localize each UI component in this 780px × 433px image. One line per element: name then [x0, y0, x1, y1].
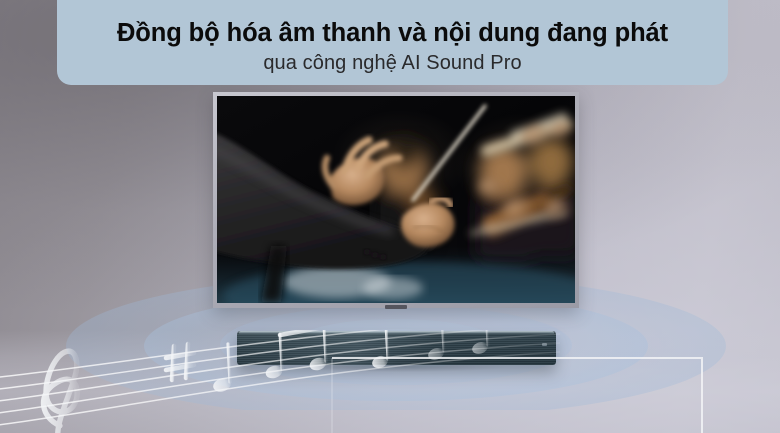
headline-banner: Đồng bộ hóa âm thanh và nội dung đang ph… [57, 0, 728, 85]
banner-headline: Đồng bộ hóa âm thanh và nội dung đang ph… [117, 19, 668, 48]
soundbar-sheen [237, 331, 556, 365]
television [213, 92, 579, 308]
soundbar [237, 331, 556, 365]
tv-screen [217, 96, 575, 303]
tv-screen-image [217, 96, 575, 303]
soundbar-indicator [542, 343, 547, 346]
banner-subheadline: qua công nghệ AI Sound Pro [263, 52, 521, 75]
promo-banner-image: Đồng bộ hóa âm thanh và nội dung đang ph… [0, 0, 780, 433]
tv-brand-nub [385, 305, 407, 309]
